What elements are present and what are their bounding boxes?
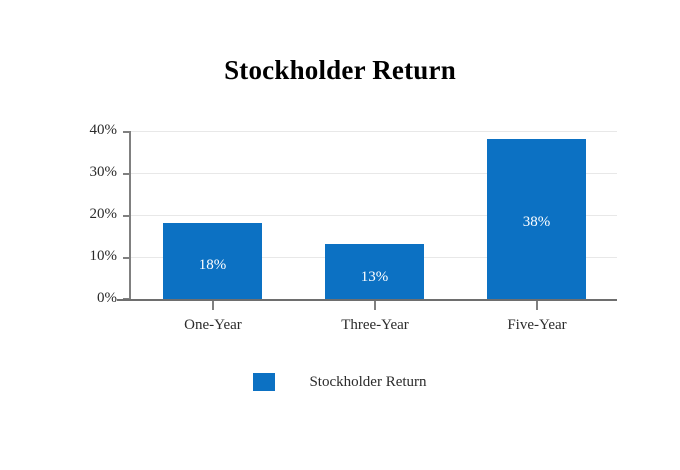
y-axis-label-20: 20% xyxy=(55,206,117,223)
gridline-40 xyxy=(131,131,617,132)
bar-value-label-one-year: 18% xyxy=(163,257,262,274)
x-tick-five-year xyxy=(536,301,538,310)
y-tick-20 xyxy=(123,215,130,217)
y-axis-label-0: 0% xyxy=(55,290,117,307)
y-tick-30 xyxy=(123,173,130,175)
y-axis-label-10: 10% xyxy=(55,248,117,265)
y-axis-label-30: 30% xyxy=(55,164,117,181)
legend-label-stockholder-return: Stockholder Return xyxy=(309,374,426,391)
chart-legend: Stockholder Return xyxy=(0,373,680,391)
bar-value-label-three-year: 13% xyxy=(325,269,424,286)
stockholder-return-chart: Stockholder Return 40% 30% 20% 10% 0% 18… xyxy=(0,0,680,470)
x-tick-one-year xyxy=(212,301,214,310)
x-axis-line xyxy=(117,299,617,301)
x-tick-three-year xyxy=(374,301,376,310)
legend-swatch-stockholder-return xyxy=(253,373,275,391)
bar-value-label-five-year: 38% xyxy=(487,214,586,231)
x-axis-label-three-year: Three-Year xyxy=(305,317,445,334)
y-axis-labels: 40% 30% 20% 10% 0% xyxy=(55,0,117,470)
y-tick-10 xyxy=(123,257,130,259)
x-axis-label-one-year: One-Year xyxy=(143,317,283,334)
y-axis-label-40: 40% xyxy=(55,122,117,139)
y-tick-40 xyxy=(123,131,130,133)
x-axis-label-five-year: Five-Year xyxy=(467,317,607,334)
